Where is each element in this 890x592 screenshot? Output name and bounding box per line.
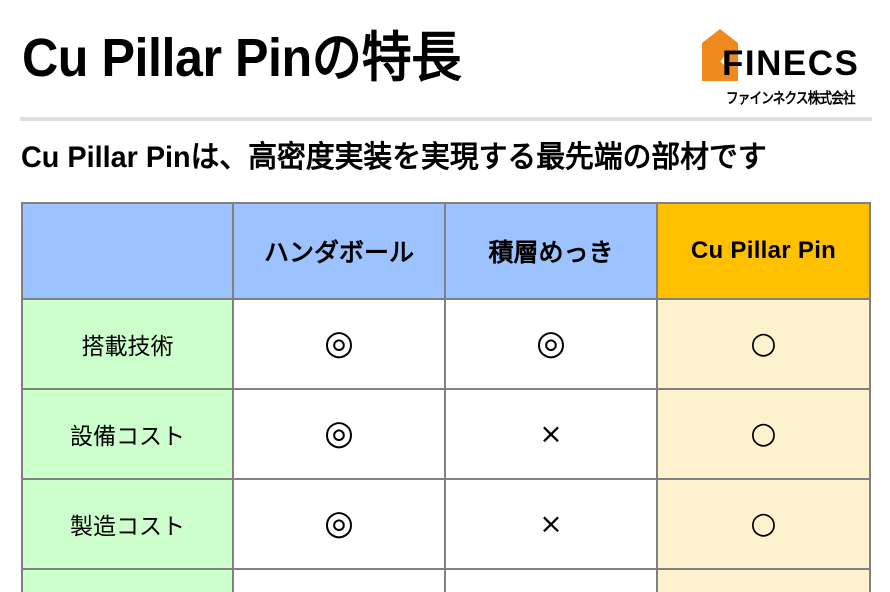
rating-symbol: ○ xyxy=(750,419,776,449)
slide-page: Cu Pillar Pinの特長 FINECS ファインネクス株式会社 Cu P… xyxy=(0,0,890,592)
slide-subtitle: Cu Pillar Pinは、高密度実装を実現する最先端の部材です xyxy=(21,138,767,178)
cell-cu-pillar-pin: ○ xyxy=(657,389,870,479)
rating-symbol: × xyxy=(539,510,562,538)
table-row: 搭載技術 ◎ ◎ ○ xyxy=(22,299,870,389)
cell-solder-ball xyxy=(233,569,445,592)
rating-symbol: ◎ xyxy=(324,506,354,540)
cell-laminated-plating: ◎ xyxy=(445,299,657,389)
cell-laminated-plating xyxy=(445,569,657,592)
rating-symbol: × xyxy=(539,420,562,448)
row-label: 搭載技術 xyxy=(22,299,233,389)
cell-cu-pillar-pin xyxy=(657,569,870,592)
cell-solder-ball: ◎ xyxy=(233,479,445,569)
table-corner-cell xyxy=(22,203,233,299)
rating-symbol: ○ xyxy=(750,509,776,539)
table-row: 製造コスト ◎ × ○ xyxy=(22,479,870,569)
cell-solder-ball: ◎ xyxy=(233,299,445,389)
cell-cu-pillar-pin: ○ xyxy=(657,479,870,569)
cell-solder-ball: ◎ xyxy=(233,389,445,479)
comparison-table: ハンダボール 積層めっき Cu Pillar Pin 搭載技術 ◎ ◎ ○ 設備… xyxy=(21,202,871,592)
cell-cu-pillar-pin: ○ xyxy=(657,299,870,389)
rating-symbol: ○ xyxy=(750,329,776,359)
finecs-wordmark: FINECS xyxy=(722,45,859,83)
row-label: 設備コスト xyxy=(22,389,233,479)
table-row xyxy=(22,569,870,592)
rating-symbol: ◎ xyxy=(324,326,354,360)
table-header-row: ハンダボール 積層めっき Cu Pillar Pin xyxy=(22,203,870,299)
page-title: Cu Pillar Pinの特長 xyxy=(22,28,461,88)
column-header-laminated-plating: 積層めっき xyxy=(445,203,657,299)
row-label xyxy=(22,569,233,592)
table-header: ハンダボール 積層めっき Cu Pillar Pin xyxy=(22,203,870,299)
column-header-solder-ball: ハンダボール xyxy=(233,203,445,299)
cell-laminated-plating: × xyxy=(445,479,657,569)
table-body: 搭載技術 ◎ ◎ ○ 設備コスト ◎ × ○ 製造コスト ◎ × ○ xyxy=(22,299,870,592)
rating-symbol: ◎ xyxy=(536,326,566,360)
table-row: 設備コスト ◎ × ○ xyxy=(22,389,870,479)
header-divider xyxy=(20,117,872,121)
cell-laminated-plating: × xyxy=(445,389,657,479)
slide-header: Cu Pillar Pinの特長 FINECS ファインネクス株式会社 xyxy=(0,0,890,118)
finecs-company-name: ファインネクス株式会社 xyxy=(726,87,855,108)
finecs-logo: FINECS ファインネクス株式会社 xyxy=(698,29,884,107)
rating-symbol: ◎ xyxy=(324,416,354,450)
column-header-cu-pillar-pin: Cu Pillar Pin xyxy=(657,203,870,299)
row-label: 製造コスト xyxy=(22,479,233,569)
